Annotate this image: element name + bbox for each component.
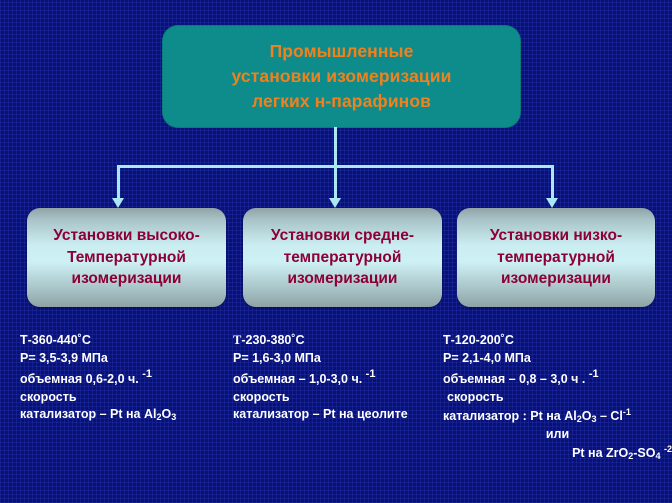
param-catalyst-alt-sup: -2: [664, 444, 672, 454]
params-column-low-temperature: Т-120-200˚С Р= 2,1-4,0 МПа объемная – 0,…: [443, 332, 672, 463]
param-space-velocity-unit: -1: [589, 368, 599, 380]
category-label: Установки высоко- Температурной изомериз…: [53, 225, 200, 290]
param-temperature: Т-120-200˚С: [443, 332, 672, 350]
param-space-velocity-value: объемная 0,6-2,0 ч: [20, 372, 135, 386]
param-temperature-rest: -230-380˚С: [241, 333, 304, 347]
category-label: Установки низко- температурной изомериза…: [490, 225, 622, 290]
param-catalyst-alt-sub2: 4: [655, 451, 660, 461]
param-space-velocity-value: – 0,8 – 3,0 ч .: [509, 372, 586, 386]
param-space-velocity-label: скорость: [443, 389, 672, 407]
category-label: Установки средне- температурной изомериз…: [271, 225, 414, 290]
param-catalyst-alt: Pt на ZrO2-SO4 -2: [443, 443, 672, 463]
param-catalyst-alt-prefix: Pt на ZrO: [572, 446, 628, 460]
param-catalyst: катализатор – Pt на цеолите: [233, 406, 445, 424]
param-or-label: или: [443, 426, 672, 444]
param-space-velocity: объемная 0,6-2,0 ч. -1: [20, 367, 235, 389]
param-space-velocity-unit: -1: [366, 368, 376, 380]
param-space-velocity-word: объемная: [233, 372, 295, 386]
connector-stem: [334, 127, 337, 167]
down-arrow-icon-middle: [329, 198, 341, 208]
param-catalyst-sup: -1: [623, 407, 631, 417]
param-temperature: Т-230-380˚С: [233, 332, 445, 350]
param-space-velocity: объемная – 1,0-3,0 ч. -1: [233, 367, 445, 389]
param-space-velocity: объемная – 0,8 – 3,0 ч . -1: [443, 367, 672, 389]
param-catalyst-mid: O: [582, 409, 592, 423]
param-catalyst-sub2: 3: [171, 412, 176, 422]
down-arrow-icon-right: [546, 198, 558, 208]
top-title-text: Промышленные установки изомеризации легк…: [231, 39, 451, 114]
category-box-medium-temperature: Установки средне- температурной изомериз…: [243, 208, 442, 307]
connector-drop-left: [117, 166, 120, 200]
param-space-velocity-word: объемная: [443, 372, 505, 386]
category-box-low-temperature: Установки низко- температурной изомериза…: [457, 208, 655, 307]
param-space-velocity-unit: -1: [142, 368, 152, 380]
param-catalyst-prefix: катализатор : Pt на Al: [443, 409, 577, 423]
down-arrow-icon-left: [112, 198, 124, 208]
param-catalyst-alt-mid: -SO: [633, 446, 655, 460]
param-space-velocity-label: скорость: [233, 389, 445, 407]
connector-drop-middle: [334, 166, 337, 200]
param-temperature: Т-360-440˚С: [20, 332, 235, 350]
params-column-high-temperature: Т-360-440˚С Р= 3,5-3,9 МПа объемная 0,6-…: [20, 332, 235, 424]
category-box-high-temperature: Установки высоко- Температурной изомериз…: [27, 208, 226, 307]
param-space-velocity-value: – 1,0-3,0 ч.: [299, 372, 363, 386]
top-title-box: Промышленные установки изомеризации легк…: [163, 26, 520, 127]
param-space-velocity-label: скорость: [20, 389, 235, 407]
param-catalyst-mid: O: [162, 407, 172, 421]
params-column-medium-temperature: Т-230-380˚С Р= 1,6-3,0 МПа объемная – 1,…: [233, 332, 445, 424]
connector-drop-right: [551, 166, 554, 200]
param-catalyst: катализатор : Pt на Al2O3 – Cl-1: [443, 406, 672, 426]
param-catalyst-prefix: катализатор – Pt на Al: [20, 407, 156, 421]
param-pressure: Р= 1,6-3,0 МПа: [233, 350, 445, 368]
param-catalyst: катализатор – Pt на Al2O3: [20, 406, 235, 424]
param-pressure: Р= 2,1-4,0 МПа: [443, 350, 672, 368]
param-pressure: Р= 3,5-3,9 МПа: [20, 350, 235, 368]
param-catalyst-suffix: – Cl: [596, 409, 622, 423]
